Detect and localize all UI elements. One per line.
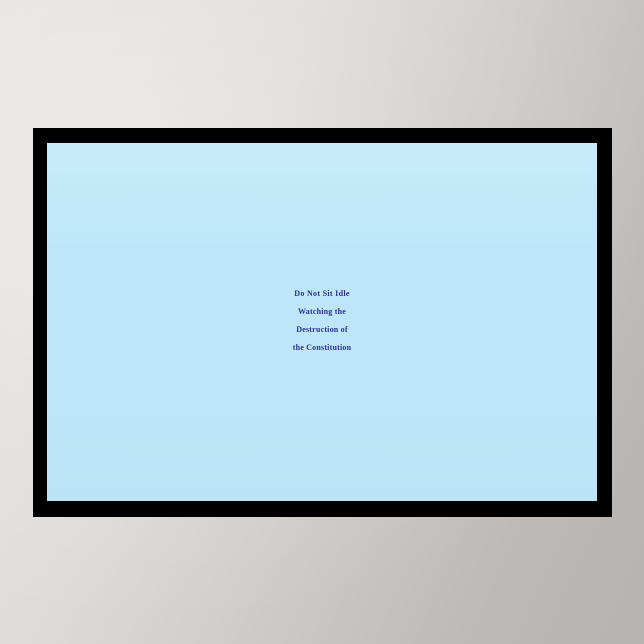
- poster-line-2: Watching the: [47, 308, 597, 316]
- poster-line-1: Do Not Sit Idle: [47, 290, 597, 298]
- poster-canvas: Do Not Sit Idle Watching the Destruction…: [47, 143, 597, 501]
- poster-text-block: Do Not Sit Idle Watching the Destruction…: [47, 292, 597, 351]
- poster-frame[interactable]: Do Not Sit Idle Watching the Destruction…: [33, 128, 612, 517]
- poster-line-3: Destruction of: [47, 326, 597, 334]
- poster-scene: Do Not Sit Idle Watching the Destruction…: [0, 0, 644, 644]
- poster-line-4: the Constitution: [47, 344, 597, 352]
